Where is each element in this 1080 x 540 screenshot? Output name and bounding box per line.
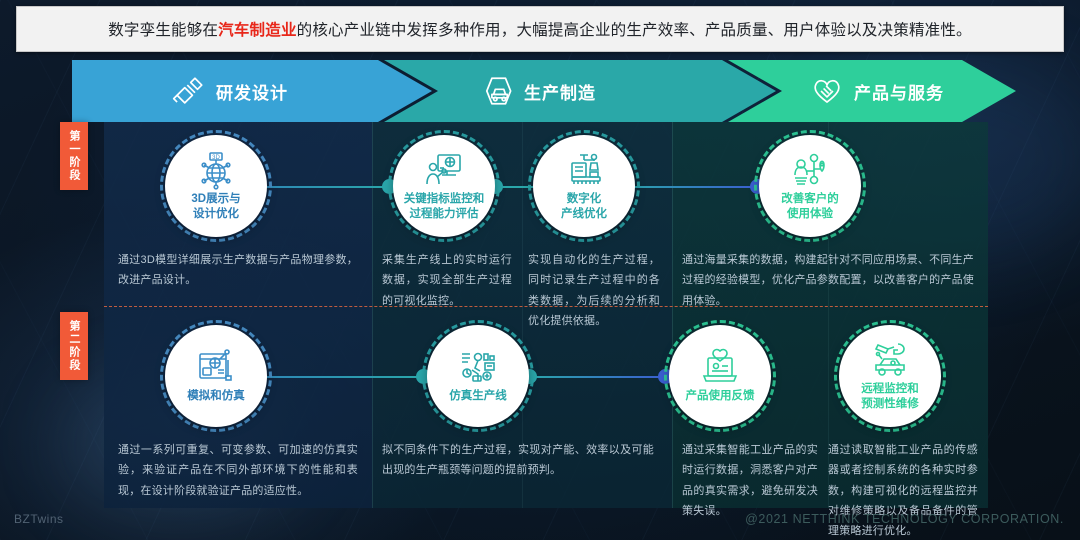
ruler-pencil-icon xyxy=(172,74,206,108)
node-title-line: 远程监控和 xyxy=(861,382,919,396)
node-title-line: 预测性维修 xyxy=(861,397,919,411)
stage-tab-2-label: 第二阶段 xyxy=(66,320,82,372)
node-disc: 3D 3D展示与 设计优化 xyxy=(165,135,267,237)
node-disc: 数字化 产线优化 xyxy=(533,135,635,237)
factory-line-icon xyxy=(564,151,604,191)
robot-arm-icon xyxy=(458,348,498,388)
node-title-line: 数字化 xyxy=(561,192,607,206)
node-title: 产品使用反馈 xyxy=(686,389,755,403)
arrow-stage-manufacturing[interactable]: 生产制造 xyxy=(384,60,776,122)
node-simulation-body: 通过一系列可重复、可变参数、可加速的仿真实验，来验证产品在不同外部环境下的性能和… xyxy=(118,440,358,501)
node-disc: 远程监控和 预测性维修 xyxy=(839,325,941,427)
node-title: 3D展示与 设计优化 xyxy=(191,192,240,220)
node-kpi-monitor-body: 采集生产线上的实时运行数据，实现全部生产过程的可视化监控。 xyxy=(382,250,512,311)
stage-tab-1[interactable]: 第一阶段 xyxy=(60,122,88,190)
arrow-stage-rd[interactable]: 研发设计 xyxy=(72,60,432,122)
node-customer-experience[interactable]: 改善客户的 使用体验 xyxy=(754,130,866,242)
node-disc: 改善客户的 使用体验 xyxy=(759,135,861,237)
process-arrow-band: 研发设计 生产制造 产品与 xyxy=(72,60,1016,122)
customer-location-icon xyxy=(790,151,830,191)
header-text-before: 数字孪生能够在 xyxy=(108,22,218,39)
connector-r2-b xyxy=(528,376,664,378)
person-monitor-icon xyxy=(424,151,464,191)
stage-tab-1-label: 第一阶段 xyxy=(66,130,82,182)
node-title: 数字化 产线优化 xyxy=(561,192,607,220)
laptop-heart-icon xyxy=(700,348,740,388)
node-title-line: 关键指标监控和 xyxy=(404,192,485,206)
connector-r1-c xyxy=(622,186,756,188)
node-3d-display-body: 通过3D模型详细展示生产数据与产品物理参数，改进产品设计。 xyxy=(118,250,358,291)
handshake-heart-icon xyxy=(810,74,844,108)
car-shield-icon xyxy=(480,74,514,108)
arrow-label-rd: 研发设计 xyxy=(216,79,288,104)
header-text-after: 的核心产业链中发挥多种作用，大幅提高企业的生产效率、产品质量、用户体验以及决策精… xyxy=(297,22,972,39)
arrow-label-manufacturing: 生产制造 xyxy=(524,79,596,104)
car-wrench-icon xyxy=(870,341,910,381)
node-title: 远程监控和 预测性维修 xyxy=(861,382,919,410)
footer-brand: BZTwins xyxy=(14,512,64,526)
header-banner: 数字孪生能够在汽车制造业的核心产业链中发挥多种作用，大幅提高企业的生产效率、产品… xyxy=(16,6,1064,52)
node-remote-monitor[interactable]: 远程监控和 预测性维修 xyxy=(834,320,946,432)
node-title: 仿真生产线 xyxy=(449,389,507,403)
node-title-line: 产线优化 xyxy=(561,207,607,221)
node-title-line: 3D展示与 xyxy=(191,192,240,206)
node-3d-display[interactable]: 3D 3D展示与 设计优化 xyxy=(160,130,272,242)
header-highlight: 汽车制造业 xyxy=(218,22,297,39)
node-title-line: 改善客户的 xyxy=(781,192,839,206)
node-disc: 产品使用反馈 xyxy=(669,325,771,427)
simulation-screen-icon xyxy=(196,348,236,388)
node-simulation[interactable]: 模拟和仿真 xyxy=(160,320,272,432)
3d-globe-network-icon: 3D xyxy=(196,151,236,191)
node-digital-line-body: 实现自动化的生产过程，同时记录生产过程中的各类数据，为后续的分析和优化提供依据。 xyxy=(528,250,660,331)
node-kpi-monitor[interactable]: 关键指标监控和 过程能力评估 xyxy=(388,130,500,242)
node-title-line: 设计优化 xyxy=(191,207,240,221)
node-title-line: 仿真生产线 xyxy=(449,389,507,403)
node-title-line: 模拟和仿真 xyxy=(187,389,245,403)
node-customer-experience-body: 通过海量采集的数据，构建起针对不同应用场景、不同生产过程的经验模型，优化产品参数… xyxy=(682,250,974,311)
column-divider-1 xyxy=(372,122,373,508)
footer-copyright: @2021 NETTHINK TECHNOLOGY CORPORATION. xyxy=(745,512,1064,526)
content-panels: 第一阶段 第二阶段 3D xyxy=(104,122,988,508)
column-divider-2 xyxy=(672,122,673,508)
node-virtual-line[interactable]: 仿真生产线 xyxy=(422,320,534,432)
node-disc: 关键指标监控和 过程能力评估 xyxy=(393,135,495,237)
node-title-line: 产品使用反馈 xyxy=(686,389,755,403)
node-title: 模拟和仿真 xyxy=(187,389,245,403)
node-virtual-line-body: 拟不同条件下的生产过程，实现对产能、效率以及可能出现的生产瓶颈等问题的提前预判。 xyxy=(382,440,654,481)
node-title-line: 使用体验 xyxy=(781,207,839,221)
header-text: 数字孪生能够在汽车制造业的核心产业链中发挥多种作用，大幅提高企业的生产效率、产品… xyxy=(108,18,972,40)
node-title: 改善客户的 使用体验 xyxy=(781,192,839,220)
node-disc: 模拟和仿真 xyxy=(165,325,267,427)
node-product-feedback[interactable]: 产品使用反馈 xyxy=(664,320,776,432)
node-disc: 仿真生产线 xyxy=(427,325,529,427)
node-title: 关键指标监控和 过程能力评估 xyxy=(404,192,485,220)
node-title-line: 过程能力评估 xyxy=(404,207,485,221)
arrow-label-product-service: 产品与服务 xyxy=(854,79,944,104)
node-digital-line[interactable]: 数字化 产线优化 xyxy=(528,130,640,242)
node-product-feedback-body: 通过采集智能工业产品的实时运行数据，洞悉客户对产品的真实需求，避免研发决策失误。 xyxy=(682,440,818,521)
stage-tab-2[interactable]: 第二阶段 xyxy=(60,312,88,380)
